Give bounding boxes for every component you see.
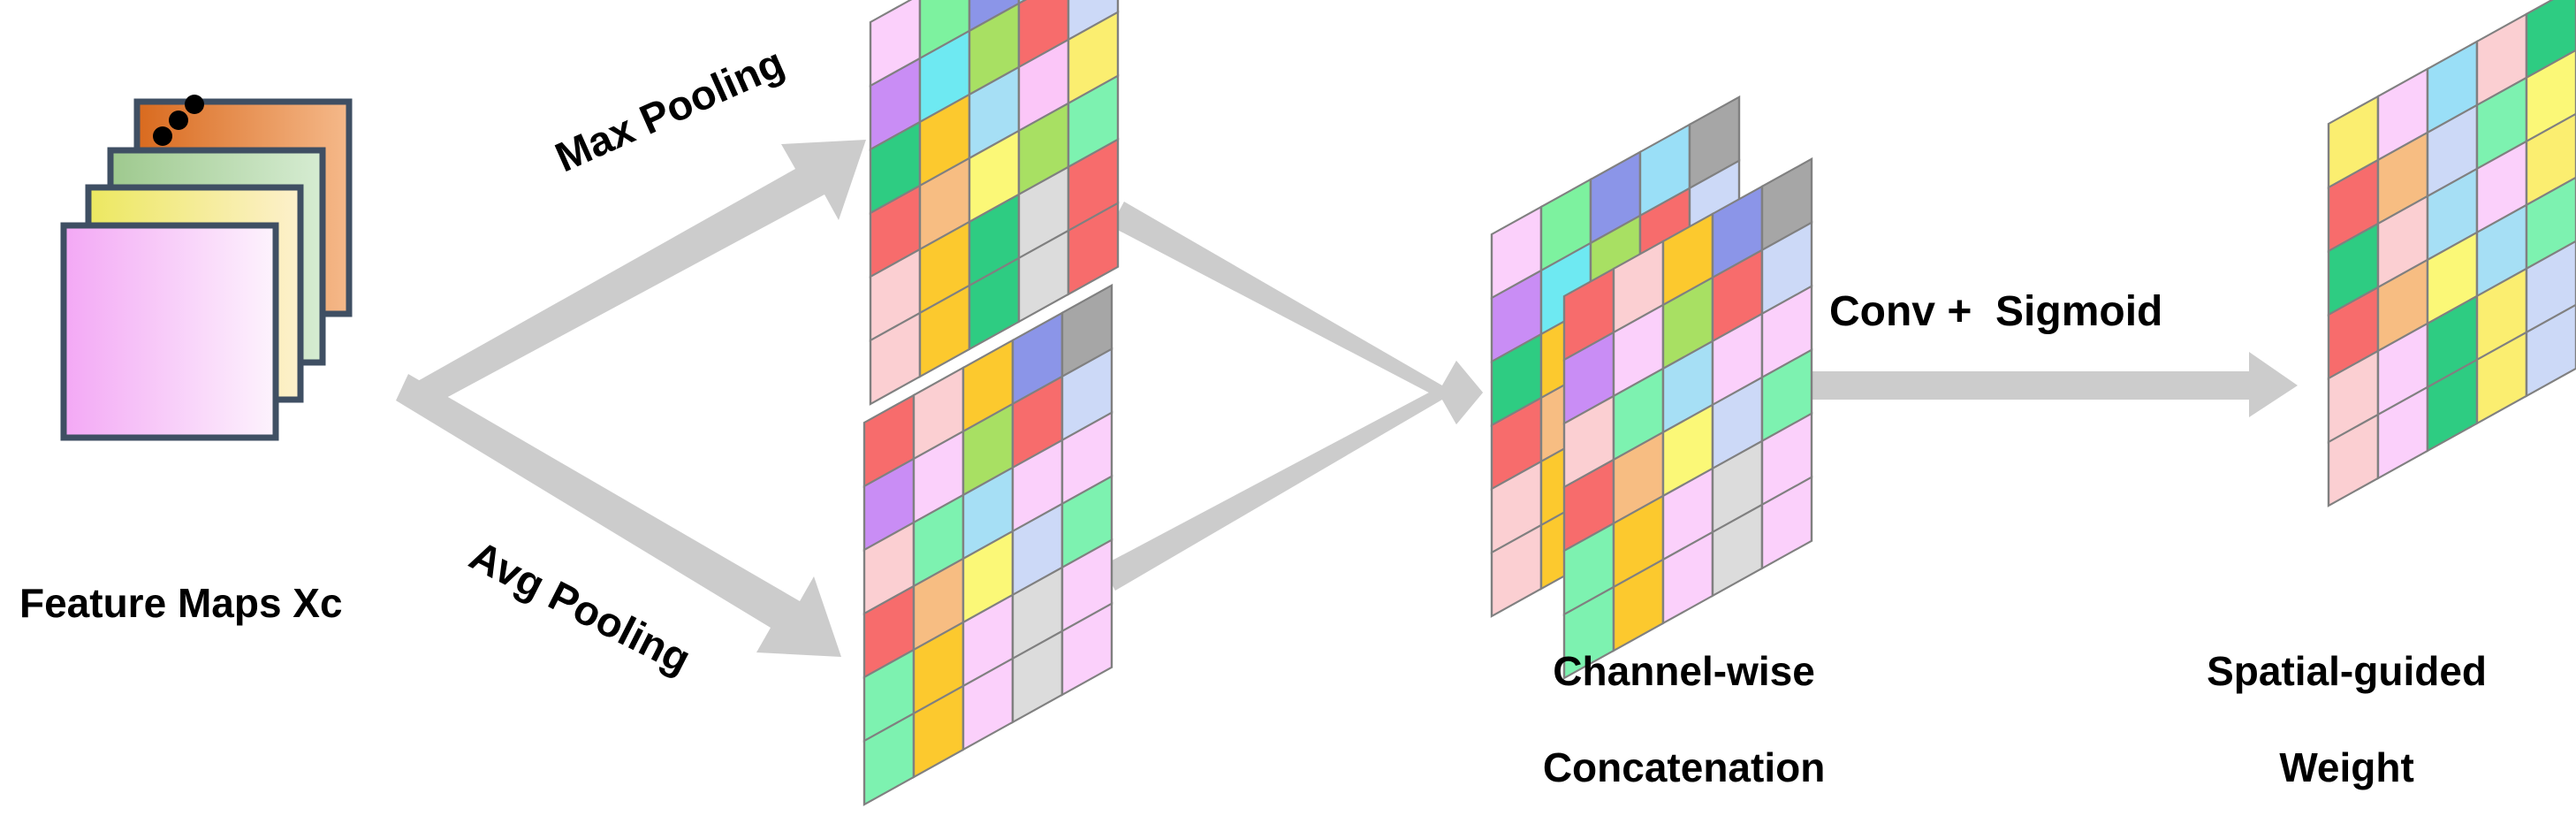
concat-line-1: Channel-wise bbox=[1553, 648, 1815, 694]
arrow-conv-sigmoid bbox=[1803, 352, 2298, 417]
concat-line-2: Concatenation bbox=[1543, 744, 1825, 790]
plane-pink bbox=[64, 225, 276, 438]
spatial-weight-grid bbox=[2329, 0, 2576, 506]
weight-line-2: Weight bbox=[2279, 744, 2413, 790]
arrow-max-pooling bbox=[408, 140, 866, 411]
arrow-group bbox=[396, 140, 2298, 657]
weight-line-1: Spatial-guided bbox=[2207, 648, 2487, 694]
arrow-concat-lower bbox=[1102, 361, 1483, 591]
arrow-concat-upper bbox=[1111, 202, 1483, 424]
feature-map-stack bbox=[64, 95, 349, 438]
label-conv-sigmoid: Conv + Sigmoid bbox=[1829, 287, 2162, 338]
diagram-canvas: Feature Maps Xc Max Pooling Avg Pooling … bbox=[0, 0, 2576, 811]
label-spatial-guided-weight: Spatial-guided Weight bbox=[2103, 599, 2545, 839]
label-channel-wise-concatenation: Channel-wise Concatenation bbox=[1432, 599, 1891, 839]
label-feature-maps: Feature Maps Xc bbox=[19, 579, 343, 627]
